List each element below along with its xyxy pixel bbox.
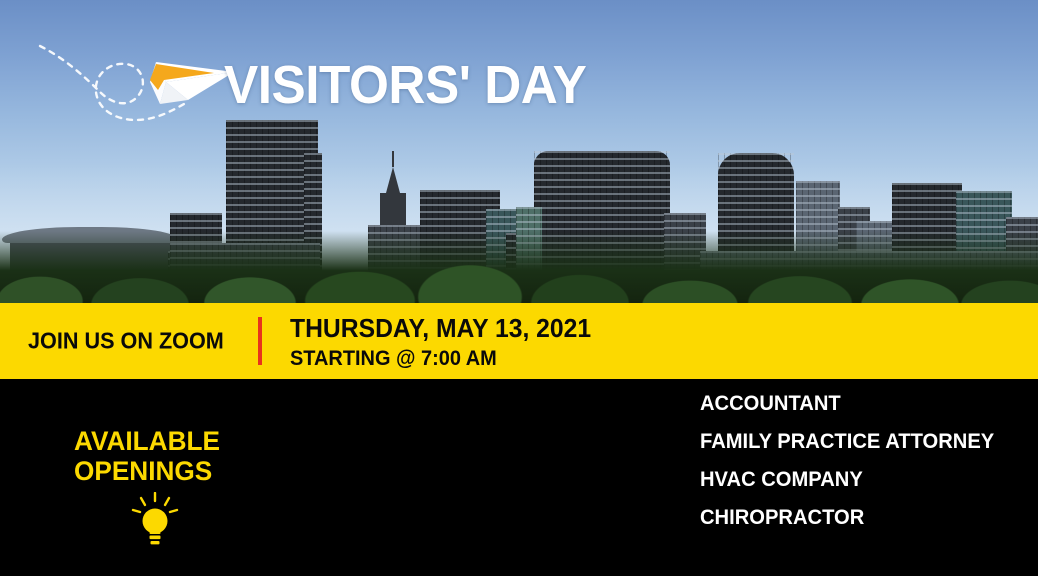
treeline <box>0 231 1038 303</box>
lightbulb-icon-wrap <box>131 492 179 548</box>
paper-plane-svg <box>38 24 248 134</box>
hero-skyline-photo: VISITORS' DAY <box>0 0 1038 303</box>
available-openings-heading: AVAILABLE OPENINGS <box>74 426 220 486</box>
spire-needle <box>392 151 394 167</box>
list-item: HVAC COMPANY <box>700 469 994 490</box>
list-item: FAMILY PRACTICE ATTORNEY <box>700 431 994 452</box>
visitors-day-poster: VISITORS' DAY JOIN US ON ZOOM THURSDAY, … <box>0 0 1038 576</box>
join-us-on-zoom-label: JOIN US ON ZOOM <box>28 328 224 355</box>
lightbulb-icon <box>131 492 179 548</box>
banner-divider <box>258 317 262 365</box>
available-openings-line1: AVAILABLE <box>74 426 220 456</box>
openings-panel: AVAILABLE OPENINGS ACCOUNTANT FAMILY <box>0 379 1038 576</box>
event-time: STARTING @ 7:00 AM <box>290 346 591 371</box>
available-openings-line2: OPENINGS <box>74 456 220 486</box>
job-openings-list: ACCOUNTANT FAMILY PRACTICE ATTORNEY HVAC… <box>700 393 1006 545</box>
paper-plane-group <box>38 24 248 134</box>
spire-cap <box>386 167 400 193</box>
event-banner: JOIN US ON ZOOM THURSDAY, MAY 13, 2021 S… <box>0 303 1038 379</box>
page-title: VISITORS' DAY <box>224 58 586 112</box>
list-item: CHIROPRACTOR <box>700 507 994 528</box>
list-item: ACCOUNTANT <box>700 393 994 414</box>
event-datetime-group: THURSDAY, MAY 13, 2021 STARTING @ 7:00 A… <box>290 314 591 371</box>
event-date: THURSDAY, MAY 13, 2021 <box>290 314 591 344</box>
paper-plane-icon <box>150 62 234 104</box>
